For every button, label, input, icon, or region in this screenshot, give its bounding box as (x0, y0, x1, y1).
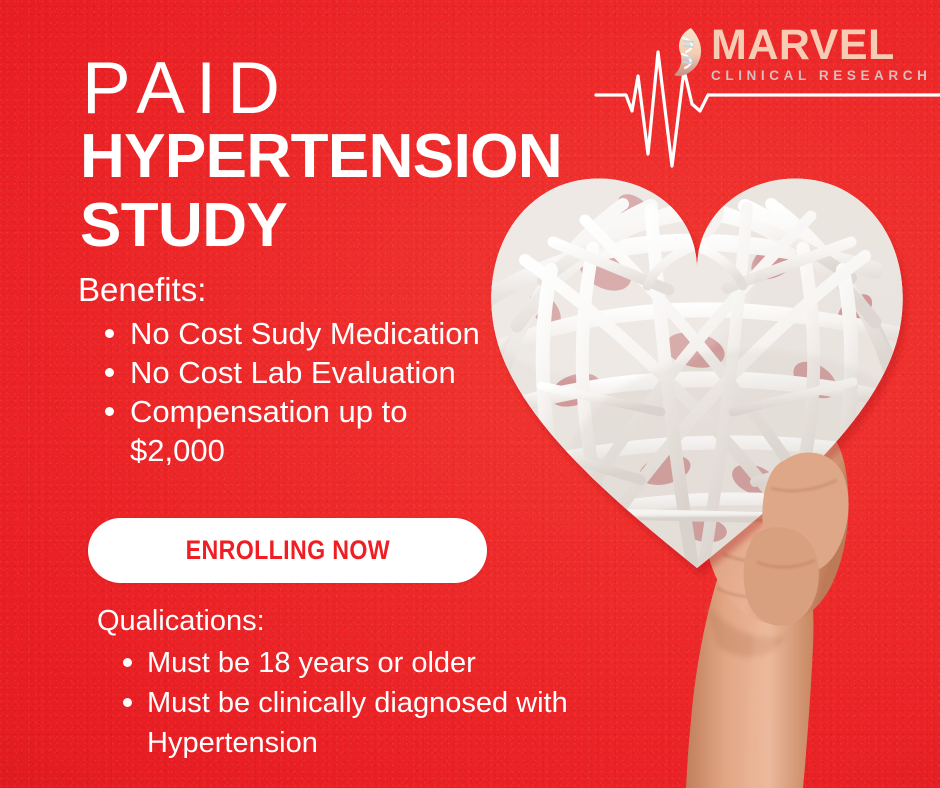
list-item: No Cost Sudy Medication (78, 314, 508, 353)
qualifications-list: Must be 18 years or older Must be clinic… (97, 643, 657, 763)
brand-tagline: CLINICAL RESEARCH (711, 69, 933, 83)
bullet-icon (105, 368, 114, 377)
bullet-icon (123, 698, 132, 707)
brand-logo[interactable]: MARVEL CLINICAL RESEARCH (596, 14, 940, 114)
bullet-icon (105, 407, 114, 416)
qualification-text: Must be clinically diagnosed with Hypert… (147, 687, 568, 759)
dna-helix-icon (671, 27, 705, 79)
benefit-text: Compensation up to $2,000 (130, 394, 407, 468)
list-item: Compensation up to $2,000 (78, 392, 508, 470)
benefits-list: No Cost Sudy Medication No Cost Lab Eval… (78, 314, 508, 470)
benefit-text: No Cost Lab Evaluation (130, 355, 456, 390)
title-line-1: HYPERTENSION (80, 122, 562, 191)
qualifications-heading: Qualications: (97, 605, 265, 637)
list-item: No Cost Lab Evaluation (78, 353, 508, 392)
headline-kicker: PAID (82, 52, 291, 125)
list-item: Must be 18 years or older (97, 643, 657, 683)
benefit-text: No Cost Sudy Medication (130, 316, 480, 351)
page-title: HYPERTENSION STUDY (80, 122, 640, 260)
bullet-icon (105, 329, 114, 338)
brand-name: MARVEL (711, 24, 933, 66)
cta-label: ENROLLING NOW (185, 535, 389, 566)
title-line-2: STUDY (80, 191, 640, 260)
qualification-text: Must be 18 years or older (147, 647, 476, 679)
enrolling-now-button[interactable]: ENROLLING NOW (88, 518, 487, 583)
benefits-heading: Benefits: (78, 272, 206, 308)
list-item: Must be clinically diagnosed with Hypert… (97, 683, 657, 763)
bullet-icon (123, 658, 132, 667)
poster-root: MARVEL CLINICAL RESEARCH PAID HYPERTENSI… (0, 0, 940, 788)
